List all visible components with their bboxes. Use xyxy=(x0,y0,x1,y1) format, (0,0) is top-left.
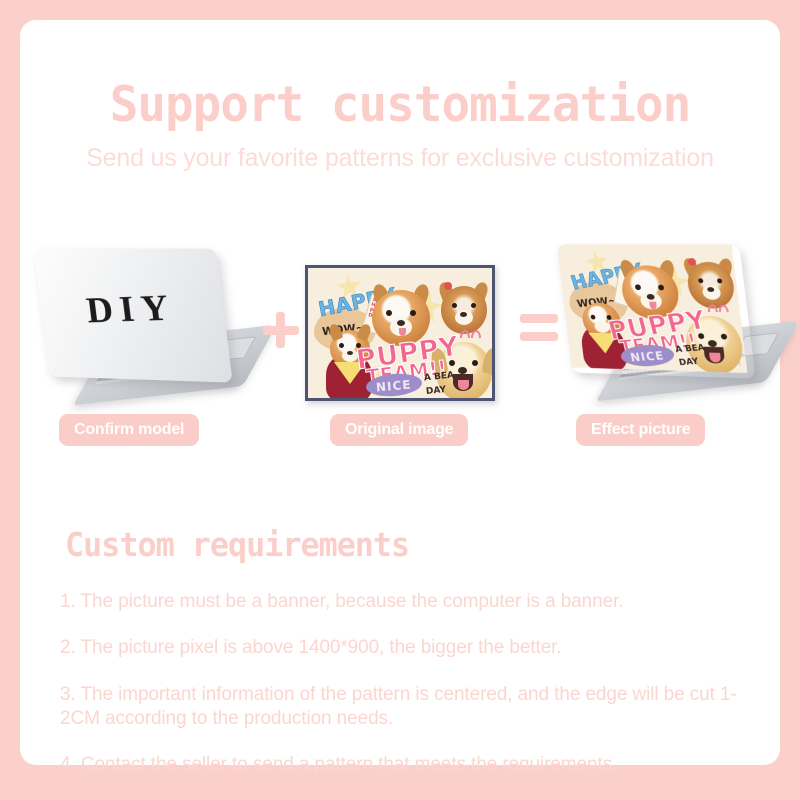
steps-row: DIY xyxy=(20,230,780,430)
dog-nose xyxy=(646,294,654,300)
requirement-item: 4. Contact the seller to send a pattern … xyxy=(60,753,750,777)
dog-eye xyxy=(452,303,457,308)
dog-eye xyxy=(635,284,641,290)
content-card: Support customization Send us your favor… xyxy=(20,20,780,765)
label-original-image: Original image xyxy=(330,414,468,446)
laptop-plain: DIY xyxy=(40,248,255,408)
artwork-text-day: DAY xyxy=(426,385,447,397)
requirements-list: 1. The picture must be a banner, because… xyxy=(60,590,750,800)
dog-nose xyxy=(458,367,467,374)
squiggle-decoration xyxy=(718,305,729,313)
step-labels-row: Confirm model Original image Effect pict… xyxy=(20,414,780,448)
dog-eye xyxy=(717,278,723,283)
step-effect-picture: WOW~ HAPPY xyxy=(555,230,780,430)
plus-icon xyxy=(263,312,303,352)
dog-eye xyxy=(386,310,392,316)
dog-eye xyxy=(721,334,728,340)
step-confirm-model: DIY xyxy=(30,230,265,430)
dog-bow xyxy=(688,258,697,266)
dog-bow xyxy=(444,282,452,290)
requirement-item: 1. The picture must be a banner, because… xyxy=(60,590,750,614)
dog-nose xyxy=(460,312,467,317)
laptop-printed: WOW~ HAPPY xyxy=(563,244,778,404)
label-effect-picture: Effect picture xyxy=(576,414,705,446)
dog-eye xyxy=(339,343,344,348)
artwork-text-nice: NICE xyxy=(629,349,665,364)
requirements-heading: Custom requirements xyxy=(65,525,409,564)
requirement-item: 3. The important information of the patt… xyxy=(60,683,750,732)
laptop-lid-plain: DIY xyxy=(34,248,233,382)
dog-eye xyxy=(410,310,416,316)
dog-tongue xyxy=(399,328,406,336)
dog-eye xyxy=(471,303,476,308)
artwork-canvas-printed: WOW~ HAPPY xyxy=(557,244,748,373)
original-image-frame: WOW~ HAPPY SO HAPPY PUPPY DAY xyxy=(305,265,495,401)
dog-nose xyxy=(397,320,405,326)
header: Support customization Send us your favor… xyxy=(20,80,780,173)
step-original-image: WOW~ HAPPY SO HAPPY PUPPY DAY xyxy=(300,230,500,430)
dog-eye xyxy=(590,315,595,320)
page-background: Support customization Send us your favor… xyxy=(0,0,800,800)
dog-tongue xyxy=(649,302,657,310)
page-subtitle: Send us your favorite patterns for exclu… xyxy=(20,145,780,173)
dog-tongue xyxy=(458,380,469,390)
dog-nose xyxy=(707,287,715,292)
dog-nose xyxy=(347,351,353,355)
squiggle-decoration xyxy=(471,330,481,338)
requirement-item: 2. The picture pixel is above 1400*900, … xyxy=(60,636,750,660)
label-confirm-model: Confirm model xyxy=(59,414,199,446)
artwork-text-day: DAY xyxy=(678,357,700,368)
artwork-canvas: WOW~ HAPPY SO HAPPY PUPPY DAY xyxy=(308,268,492,398)
dog-eye xyxy=(698,278,704,283)
dog-eye xyxy=(658,285,665,291)
equals-icon xyxy=(520,312,560,342)
diy-label: DIY xyxy=(39,284,226,333)
laptop-lid-printed: WOW~ HAPPY xyxy=(557,244,756,378)
dog-eye xyxy=(472,360,478,366)
page-title: Support customization xyxy=(31,80,768,129)
